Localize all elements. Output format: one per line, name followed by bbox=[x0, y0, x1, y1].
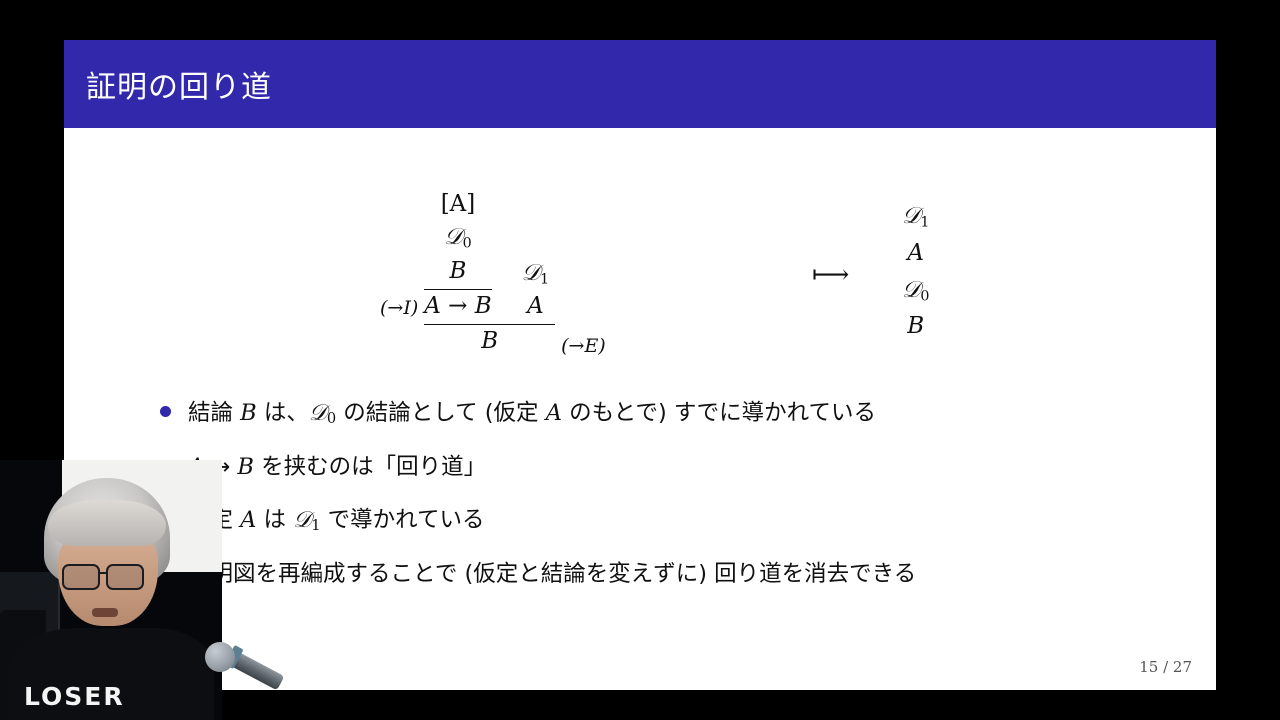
list-item-label: 証明図を再編成することで (仮定と結論を変えずに) 回り道を消去できる bbox=[188, 559, 916, 589]
minor-premise-branch: 𝒟1 A bbox=[492, 257, 555, 324]
microphone-icon bbox=[205, 632, 287, 678]
page-number: 15 / 27 bbox=[1139, 658, 1192, 676]
elimination-inference: [A] 𝒟0 B A → B bbox=[424, 188, 555, 359]
introduction-inference: [A] 𝒟0 B A → B bbox=[424, 188, 491, 323]
eyeglasses-right-lens bbox=[106, 564, 144, 590]
sub-derivation-d0: 𝒟0 bbox=[440, 221, 475, 254]
right-derivation-d1: 𝒟1 bbox=[902, 198, 929, 235]
presenter-mouth bbox=[92, 608, 118, 617]
list-item-label: 結論 B は、𝒟0 の結論として (仮定 A のもとで) すでに導かれている bbox=[188, 398, 876, 429]
right-derivation-a: A bbox=[902, 235, 929, 272]
presentation-slide: 証明の回り道 (→I) [A] 𝒟0 bbox=[64, 40, 1216, 690]
rule-label-implication-elim: (→E) bbox=[555, 335, 606, 359]
introduction-premises: [A] 𝒟0 B bbox=[424, 188, 491, 288]
sub-derivation-d1: 𝒟1 bbox=[522, 257, 549, 290]
list-item-label: 仮定 A は 𝒟1 で導かれている bbox=[188, 505, 484, 536]
elimination-premises: [A] 𝒟0 B A → B bbox=[424, 188, 555, 323]
list-item: 仮定 A は 𝒟1 で導かれている bbox=[160, 505, 1176, 536]
bullet-list: 結論 B は、𝒟0 の結論として (仮定 A のもとで) すでに導かれているA … bbox=[160, 398, 1176, 613]
microphone-head bbox=[205, 642, 235, 672]
premise-b: B bbox=[440, 255, 475, 288]
mapsto-arrow-icon: ⟼ bbox=[812, 260, 849, 290]
discharged-hypothesis: [A] bbox=[440, 188, 475, 221]
presenter-hair-fringe bbox=[48, 500, 166, 546]
list-item: 証明図を再編成することで (仮定と結論を変えずに) 回り道を消去できる bbox=[160, 559, 1176, 589]
final-conclusion-row: B bbox=[424, 325, 555, 358]
right-derivation-b: B bbox=[902, 308, 929, 345]
slide-header-bar: 証明の回り道 bbox=[64, 40, 1216, 128]
proof-tree-right: 𝒟1 A 𝒟0 B bbox=[902, 198, 929, 345]
list-item: 結論 B は、𝒟0 の結論として (仮定 A のもとで) すでに導かれている bbox=[160, 398, 1176, 429]
page-title: 証明の回り道 bbox=[86, 62, 272, 106]
shirt-logo-text: LOSER bbox=[24, 682, 125, 711]
conclusion-a-implies-b: A → B bbox=[424, 290, 491, 323]
eyeglasses-left-lens bbox=[62, 564, 100, 590]
eyeglasses-bridge bbox=[100, 572, 108, 574]
list-item-label: A → B を挟むのは「回り道」 bbox=[188, 452, 486, 482]
proof-tree-figure: (→I) [A] 𝒟0 B bbox=[64, 188, 1216, 388]
slide-body: (→I) [A] 𝒟0 B bbox=[64, 128, 1216, 690]
list-item: A → B を挟むのは「回り道」 bbox=[160, 452, 1176, 482]
presenter-webcam-overlay: LOSER bbox=[0, 460, 222, 720]
minor-premise-a: A bbox=[527, 290, 544, 323]
right-derivation-d0: 𝒟0 bbox=[902, 272, 929, 309]
rule-label-implication-intro: (→I) bbox=[380, 297, 424, 359]
proof-tree-left: (→I) [A] 𝒟0 B bbox=[380, 188, 606, 359]
final-conclusion-b: B bbox=[424, 325, 555, 358]
bullet-marker-icon bbox=[160, 406, 171, 417]
screen-capture: 証明の回り道 (→I) [A] 𝒟0 bbox=[0, 0, 1280, 720]
